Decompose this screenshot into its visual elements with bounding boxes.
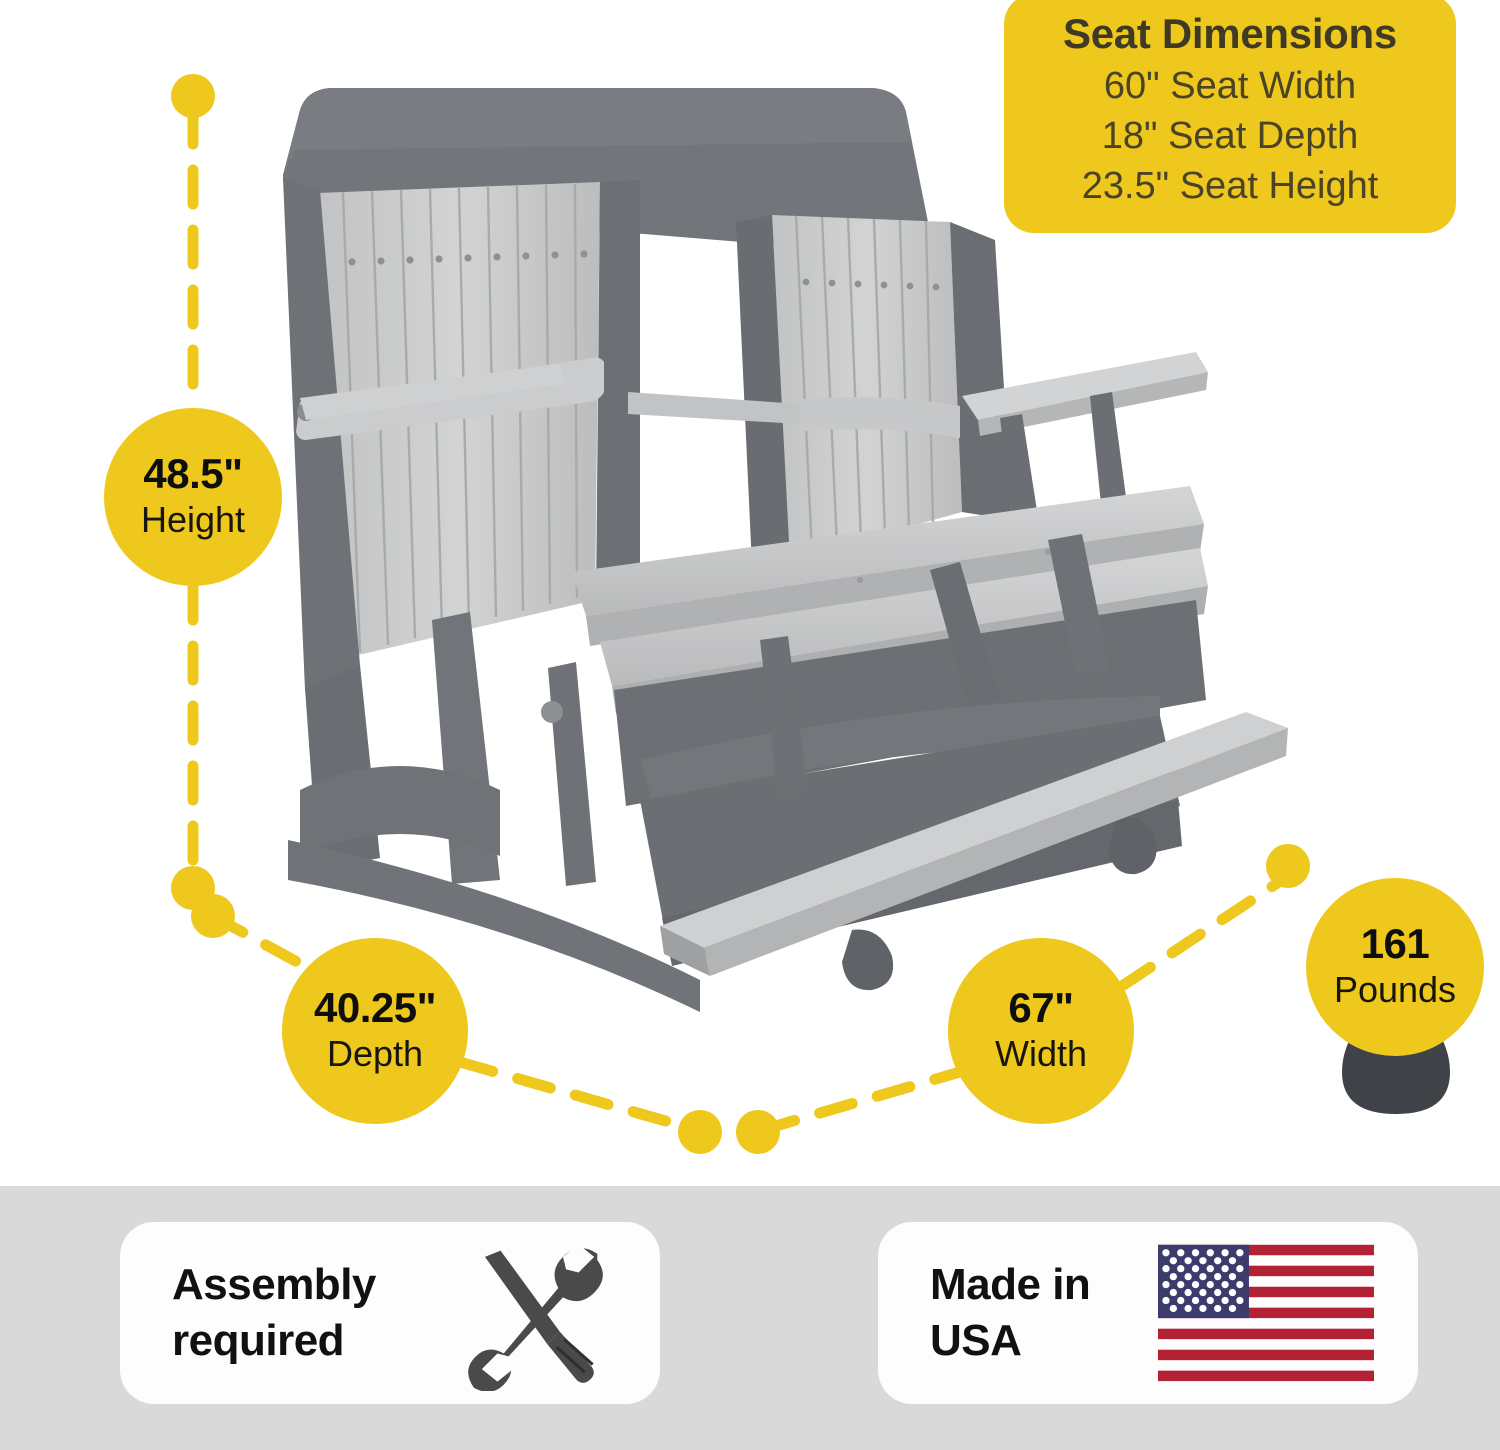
footrest-board: [660, 712, 1288, 948]
leg-front-left: [432, 612, 500, 884]
depth-value: 40.25": [314, 987, 436, 1029]
back-top-rail-highlight: [283, 88, 912, 175]
width-callout: 67" Width: [948, 938, 1134, 1124]
glider-arm-left: [548, 662, 596, 886]
base-foot-right: [1108, 817, 1157, 874]
base-foot-left: [842, 930, 893, 991]
weight-callout: 161 Pounds: [1306, 878, 1484, 1056]
back-panel-right: [772, 215, 962, 560]
back-top-rail: [283, 88, 930, 256]
arm-support-left: [1000, 414, 1040, 530]
back-brace-pivot: [297, 403, 315, 421]
infographic-canvas: Seat Dimensions 60" Seat Width 18" Seat …: [0, 0, 1500, 1450]
usa-line-2: USA: [930, 1313, 1090, 1369]
seat-assembly: [572, 486, 1208, 714]
glider-link-right2: [1048, 534, 1110, 676]
base-rail-lower: [662, 800, 1182, 966]
height-value: 48.5": [143, 453, 242, 495]
assembly-label: Assembly required: [172, 1257, 376, 1370]
footrest-board-end: [660, 926, 710, 976]
glider-link-right: [930, 562, 1000, 706]
leg-rear-left: [305, 665, 380, 870]
height-callout: 48.5" Height: [104, 408, 282, 586]
rocker-plate-left: [300, 766, 500, 856]
frame-stile-right: [950, 222, 1012, 520]
depth-endpoint-end: [678, 1110, 722, 1154]
armrest-left: [300, 364, 566, 420]
seat-depth-line: 18" Seat Depth: [1014, 111, 1446, 161]
weight-label: Pounds: [1334, 969, 1456, 1011]
width-endpoint-start: [736, 1110, 780, 1154]
glider-link-centre: [760, 636, 808, 796]
seat-apron-curve: [640, 696, 1160, 800]
armrest-right: [962, 352, 1208, 420]
back-brace-mid: [628, 392, 800, 424]
frame-stile-mid-right: [736, 215, 790, 566]
arm-support-right: [1090, 392, 1128, 514]
back-brace-left: [296, 358, 604, 441]
height-endpoint-top: [171, 74, 215, 118]
seat-height-line: 23.5" Seat Height: [1014, 161, 1446, 211]
width-line-right: [1122, 880, 1282, 986]
seat-apron: [614, 600, 1206, 806]
weight-value: 161: [1361, 923, 1430, 965]
base-rail: [640, 716, 1180, 926]
usa-line-1: Made in: [930, 1257, 1090, 1313]
frame-stile-left: [283, 178, 360, 690]
depth-callout: 40.25" Depth: [282, 938, 468, 1124]
back-brace-right: [790, 397, 960, 438]
tools-icon: [460, 1235, 616, 1391]
width-label: Width: [995, 1033, 1087, 1075]
assembly-line-1: Assembly: [172, 1257, 376, 1313]
height-endpoint-bottom: [171, 866, 215, 910]
usa-flag-icon: [1158, 1243, 1374, 1383]
width-line-left: [762, 1072, 960, 1130]
width-value: 67": [1008, 987, 1073, 1029]
back-panel-left: [318, 182, 600, 660]
depth-line-lower: [460, 1062, 690, 1128]
assembly-line-2: required: [172, 1313, 376, 1369]
armrest-right-edge: [978, 372, 1208, 436]
seat-width-line: 60" Seat Width: [1014, 61, 1446, 111]
footrest-board-edge: [704, 728, 1288, 976]
assembly-required-badge: Assembly required: [120, 1222, 660, 1404]
usa-label: Made in USA: [930, 1257, 1090, 1370]
depth-label: Depth: [327, 1033, 423, 1075]
width-endpoint-end: [1266, 844, 1310, 888]
glider-pivot-left: [541, 701, 563, 723]
depth-endpoint-start: [191, 894, 235, 938]
seat-dimensions-card: Seat Dimensions 60" Seat Width 18" Seat …: [1004, 0, 1456, 233]
seat-dimensions-title: Seat Dimensions: [1014, 8, 1446, 61]
height-label: Height: [141, 499, 245, 541]
back-centre-post: [596, 180, 640, 600]
made-in-usa-badge: Made in USA: [878, 1222, 1418, 1404]
